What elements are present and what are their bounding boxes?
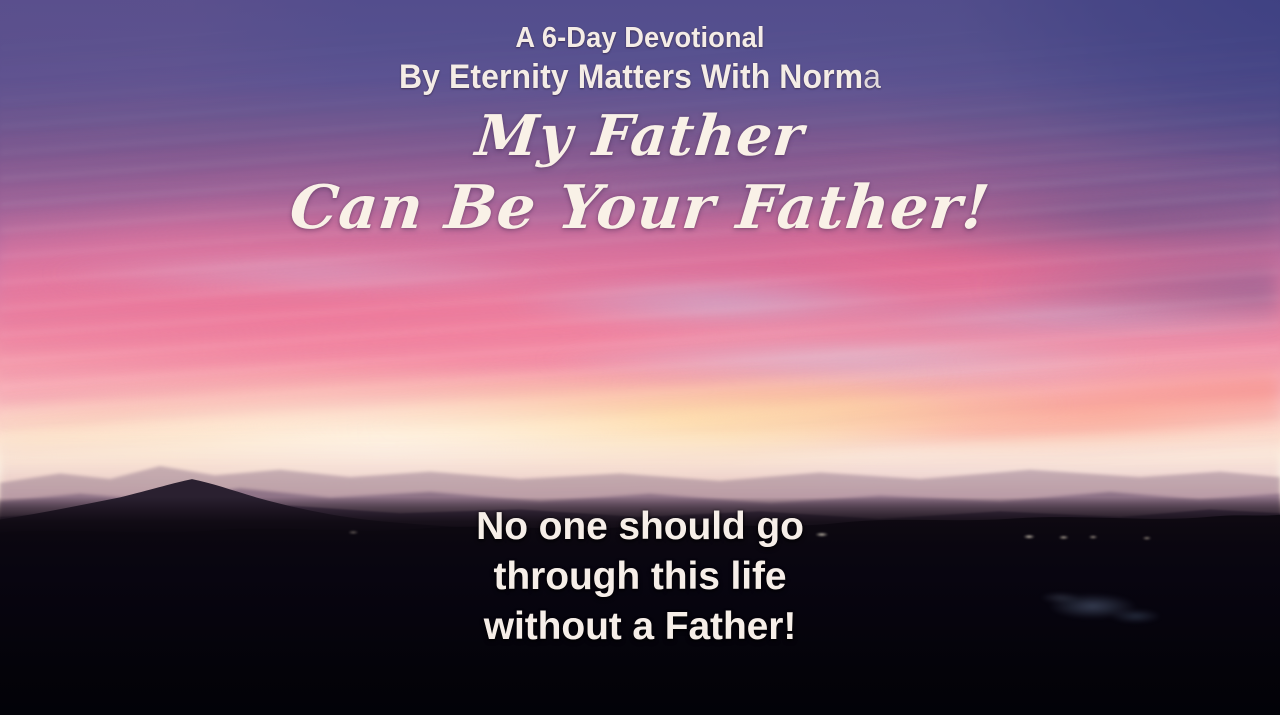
devotional-subtitle: A 6-Day Devotional xyxy=(38,22,1241,55)
devotional-cover-image: A 6-Day Devotional By Eternity Matters W… xyxy=(0,0,1280,720)
author-line-tail: a xyxy=(863,58,881,96)
tagline-line-2: through this life xyxy=(0,552,1280,602)
text-overlay: A 6-Day Devotional By Eternity Matters W… xyxy=(0,0,1280,720)
tagline-line-1: No one should go xyxy=(0,502,1280,552)
author-line-main: By Eternity Matters With Norm xyxy=(399,58,863,96)
header-text-block: A 6-Day Devotional By Eternity Matters W… xyxy=(0,22,1280,97)
title-script-block: My Father Can Be Your Father! xyxy=(0,108,1280,238)
tagline-block: No one should go through this life witho… xyxy=(0,502,1280,652)
title-line-1: My Father xyxy=(0,108,1280,164)
title-line-2: Can Be Your Father! xyxy=(0,178,1280,238)
tagline-line-3: without a Father! xyxy=(0,602,1280,652)
devotional-author-line: By Eternity Matters With Norma xyxy=(38,58,1241,97)
